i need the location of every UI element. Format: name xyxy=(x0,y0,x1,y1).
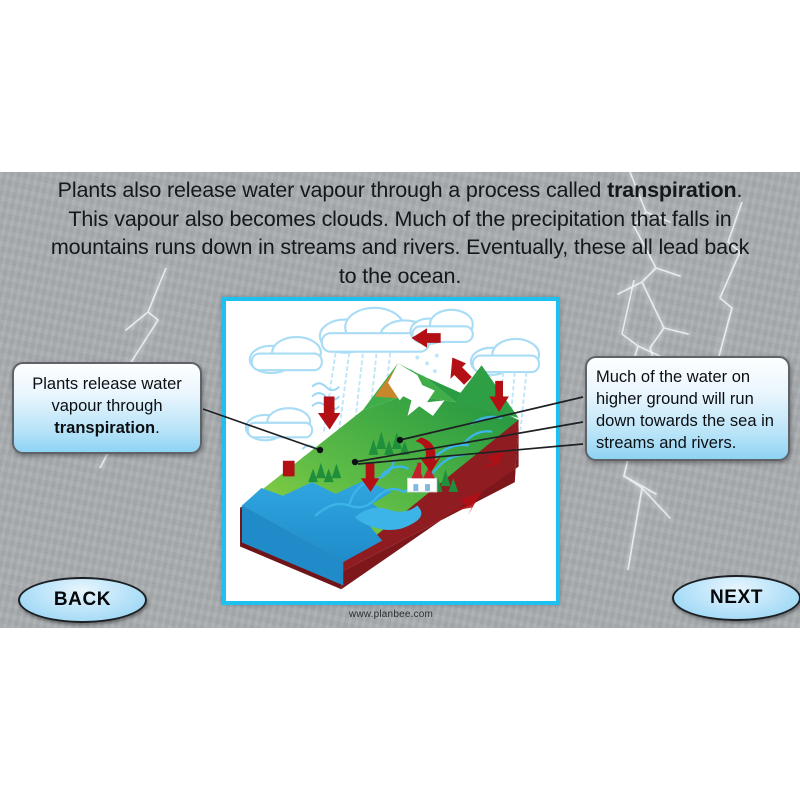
next-button-label: NEXT xyxy=(710,587,763,609)
back-button[interactable]: BACK xyxy=(18,577,147,623)
water-cycle-illustration xyxy=(226,301,556,601)
slide-container: Plants also release water vapour through… xyxy=(0,172,800,628)
caption-keyword-transpiration: transpiration xyxy=(607,178,736,202)
back-button-label: BACK xyxy=(54,589,111,611)
arrow-down-right-of-peak xyxy=(450,357,471,384)
water-cycle-diagram-panel xyxy=(222,297,560,605)
callout-left-keyword: transpiration xyxy=(54,419,155,437)
callout-left-text-post: . xyxy=(155,419,160,437)
cloud-icon-lower-left xyxy=(246,408,312,440)
transpiration-callout[interactable]: Plants release water vapour through tran… xyxy=(12,362,202,454)
cloud-icon-left xyxy=(250,337,322,373)
caption-text-pre: Plants also release water vapour through… xyxy=(58,178,607,202)
next-button[interactable]: NEXT xyxy=(672,575,800,621)
arrow-up-transpiration-left xyxy=(318,396,340,429)
watermark-url: www.planbee.com xyxy=(222,609,560,620)
slide-caption: Plants also release water vapour through… xyxy=(0,174,800,290)
runoff-callout[interactable]: Much of the water on higher ground will … xyxy=(585,356,790,461)
callout-left-text-pre: Plants release water vapour through xyxy=(32,375,182,415)
